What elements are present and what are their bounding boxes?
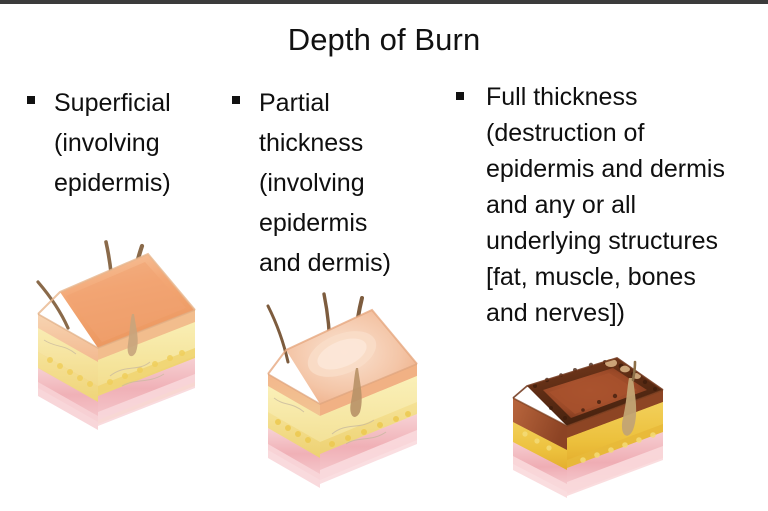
bullet-block-full-thickness: Full thickness (destruction of epidermis…	[456, 79, 761, 331]
partial-thickness-burn-skin-diagram	[262, 292, 427, 492]
full-thickness-burn-skin-diagram	[505, 356, 675, 511]
bullet-label-full-thickness: Full thickness (destruction of epidermis…	[486, 79, 761, 331]
bullet-item-partial-thickness: Partial thickness (involving epidermis a…	[232, 83, 437, 283]
hair-shaft	[633, 362, 635, 380]
full-thickness-burn-svg	[505, 356, 675, 511]
page-title: Depth of Burn	[0, 22, 768, 58]
bullet-block-partial-thickness: Partial thickness (involving epidermis a…	[232, 83, 437, 283]
bullet-label-partial-thickness: Partial thickness (involving epidermis a…	[259, 83, 437, 283]
slide-canvas: Depth of Burn Superficial (involving epi…	[0, 0, 768, 511]
slide-top-rule	[0, 0, 768, 4]
partial-thickness-burn-svg	[262, 292, 427, 492]
square-bullet-icon	[456, 92, 464, 100]
bullet-block-superficial: Superficial (involving epidermis)	[27, 83, 232, 203]
bullet-label-superficial: Superficial (involving epidermis)	[54, 83, 232, 203]
bullet-item-full-thickness: Full thickness (destruction of epidermis…	[456, 79, 761, 331]
superficial-burn-skin-diagram	[30, 236, 205, 436]
superficial-burn-svg	[30, 236, 205, 436]
bullet-item-superficial: Superficial (involving epidermis)	[27, 83, 232, 203]
square-bullet-icon	[232, 96, 240, 104]
square-bullet-icon	[27, 96, 35, 104]
